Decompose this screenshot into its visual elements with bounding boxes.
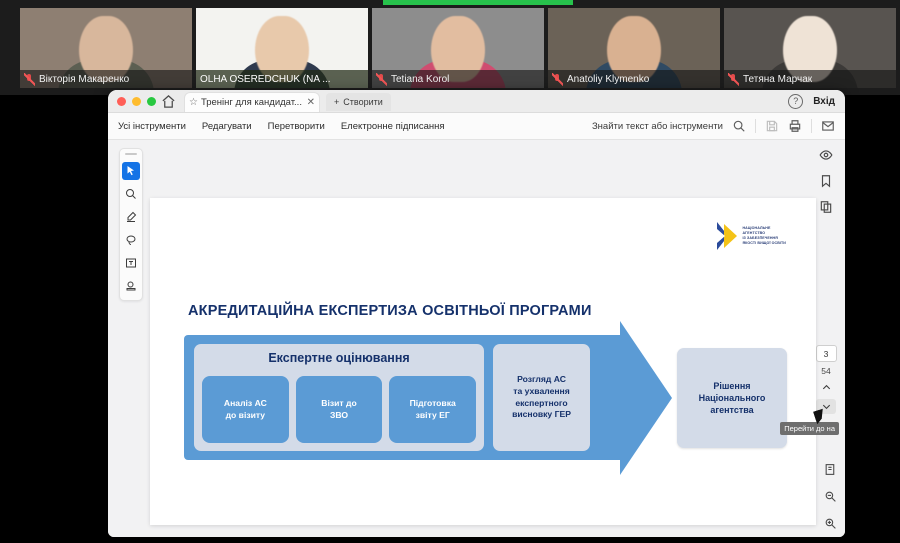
participant-name-bar: OLHA OSEREDCHUK (NA ... — [196, 70, 368, 88]
active-speaker-indicator — [383, 0, 573, 5]
microphone-muted-icon — [728, 73, 739, 86]
document-work-area: 3 54 Перейти до на — [108, 140, 845, 537]
pages-copy-icon[interactable] — [819, 200, 835, 216]
window-title-bar: ☆ Тренінг для кандидат... ✕ + Створити ?… — [108, 90, 845, 113]
zoom-out-icon[interactable] — [824, 490, 837, 508]
fit-page-icon[interactable] — [824, 463, 837, 481]
menu-item-e-sign[interactable]: Електронне підписання — [341, 121, 445, 132]
save-icon[interactable] — [765, 119, 779, 133]
stamp-tool[interactable] — [122, 277, 140, 295]
sign-in-button[interactable]: Вхід — [813, 96, 835, 107]
text-box-tool[interactable] — [122, 254, 140, 272]
participant-tile[interactable]: OLHA OSEREDCHUK (NA ... — [196, 8, 368, 88]
microphone-muted-icon — [24, 73, 35, 86]
view-eye-icon[interactable] — [819, 148, 835, 164]
maximize-window-button[interactable] — [147, 97, 156, 106]
bookmark-icon[interactable] — [819, 174, 835, 190]
slide-title: АКРЕДИТАЦІЙНА ЕКСПЕРТИЗА ОСВІТНЬОЇ ПРОГР… — [188, 303, 592, 319]
rail-drag-handle[interactable] — [125, 153, 137, 155]
participant-name: Anatoliy Klymenko — [567, 74, 649, 85]
acrobat-reader-window: ☆ Тренінг для кандидат... ✕ + Створити ?… — [108, 90, 845, 537]
logo-mark-icon — [717, 222, 738, 250]
home-icon[interactable] — [161, 94, 176, 109]
participant-name: Tetiana Korol — [391, 74, 449, 85]
help-icon[interactable]: ? — [788, 94, 803, 109]
new-tab-button[interactable]: + Створити — [326, 93, 391, 111]
evaluation-step-box: Аналіз АСдо візиту — [202, 376, 289, 443]
evaluation-step-box: Підготовказвіту ЕГ — [389, 376, 476, 443]
plus-icon: + — [334, 97, 339, 107]
tab-title: Тренінг для кандидат... — [201, 97, 304, 108]
menu-bar-right-group: Знайти текст або інструменти — [592, 113, 835, 139]
organization-logo: НАЦІОНАЛЬНЕ АГЕНТСТВО ІЗ ЗАБЕЗПЕЧЕННЯ ЯК… — [717, 222, 786, 250]
total-pages-label: 54 — [821, 366, 830, 376]
expert-evaluation-panel: Експертне оцінювання Аналіз АСдо візитуВ… — [194, 344, 484, 451]
process-flow-diagram: Експертне оцінювання Аналіз АСдо візитуВ… — [184, 330, 784, 465]
logo-line: ЯКОСТІ ВИЩОЇ ОСВІТИ — [742, 241, 786, 246]
menu-bar: Усі інструменти Редагувати Перетворити Е… — [108, 113, 845, 140]
participant-tile[interactable]: Anatoliy Klymenko — [548, 8, 720, 88]
lasso-draw-tool[interactable] — [122, 231, 140, 249]
menu-item-convert[interactable]: Перетворити — [268, 121, 325, 132]
star-icon[interactable]: ☆ — [189, 97, 198, 108]
participant-name-bar: Тетяна Марчак — [724, 70, 896, 88]
expert-evaluation-steps: Аналіз АСдо візитуВізит доЗВОПідготовказ… — [202, 376, 476, 443]
window-traffic-lights[interactable] — [117, 97, 156, 106]
titlebar-right-group: ? Вхід — [788, 94, 835, 109]
expert-evaluation-title: Експертне оцінювання — [194, 351, 484, 365]
participant-name-bar: Anatoliy Klymenko — [548, 70, 720, 88]
right-tool-rail — [817, 148, 837, 216]
mail-icon[interactable] — [821, 119, 835, 133]
highlighter-tool[interactable] — [122, 208, 140, 226]
participant-tile[interactable]: Тетяна Марчак — [724, 8, 896, 88]
document-tab[interactable]: ☆ Тренінг для кандидат... ✕ — [184, 92, 320, 112]
pdf-page[interactable]: НАЦІОНАЛЬНЕ АГЕНТСТВО ІЗ ЗАБЕЗПЕЧЕННЯ ЯК… — [150, 198, 816, 525]
current-page-input[interactable]: 3 — [816, 345, 837, 362]
microphone-muted-icon — [552, 73, 563, 86]
minimize-window-button[interactable] — [132, 97, 141, 106]
close-icon[interactable]: ✕ — [307, 97, 315, 108]
participant-tile[interactable]: Tetiana Korol — [372, 8, 544, 88]
participant-tiles: Вікторія МакаренкоOLHA OSEREDCHUK (NA ..… — [20, 8, 900, 88]
find-label[interactable]: Знайти текст або інструменти — [592, 121, 723, 132]
divider — [811, 119, 812, 133]
left-tool-rail — [119, 148, 143, 301]
previous-page-button[interactable] — [816, 380, 836, 395]
video-conference-strip: Вікторія МакаренкоOLHA OSEREDCHUK (NA ..… — [0, 0, 900, 95]
participant-name: Вікторія Макаренко — [39, 74, 129, 85]
zoom-in-icon[interactable] — [824, 517, 837, 535]
page-navigation-controls: 3 54 — [813, 345, 839, 414]
participant-name-bar: Tetiana Korol — [372, 70, 544, 88]
ger-review-text: Розгляд АСта ухваленняекспертноговисновк… — [508, 374, 575, 420]
agency-decision-stage: РішенняНаціональногоагентства — [677, 348, 787, 448]
arrow-shape-head — [620, 321, 672, 475]
logo-text: НАЦІОНАЛЬНЕ АГЕНТСТВО ІЗ ЗАБЕЗПЕЧЕННЯ ЯК… — [742, 226, 786, 247]
zoom-tool[interactable] — [122, 185, 140, 203]
evaluation-step-box: Візит доЗВО — [296, 376, 383, 443]
participant-tile[interactable]: Вікторія Макаренко — [20, 8, 192, 88]
microphone-muted-icon — [376, 73, 387, 86]
new-tab-label: Створити — [343, 97, 383, 107]
ger-review-stage: Розгляд АСта ухваленняекспертноговисновк… — [493, 344, 590, 451]
next-page-tooltip: Перейти до на — [780, 422, 839, 435]
agency-decision-text: РішенняНаціональногоагентства — [695, 380, 770, 416]
divider — [755, 119, 756, 133]
participant-name: OLHA OSEREDCHUK (NA ... — [200, 74, 331, 85]
participant-name-bar: Вікторія Макаренко — [20, 70, 192, 88]
menu-item-edit[interactable]: Редагувати — [202, 121, 252, 132]
bottom-zoom-controls — [824, 463, 837, 535]
participant-name: Тетяна Марчак — [743, 74, 812, 85]
menu-item-all-tools[interactable]: Усі інструменти — [118, 121, 186, 132]
select-cursor-tool[interactable] — [122, 162, 140, 180]
search-icon[interactable] — [732, 119, 746, 133]
print-icon[interactable] — [788, 119, 802, 133]
close-window-button[interactable] — [117, 97, 126, 106]
